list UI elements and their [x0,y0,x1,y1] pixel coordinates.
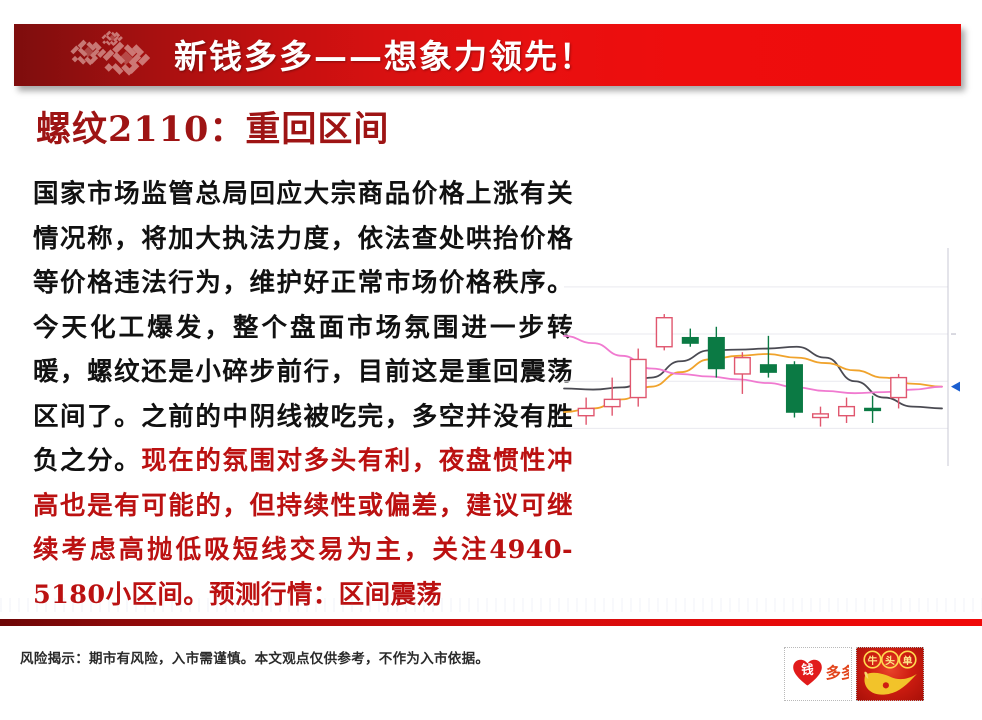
candlestick-chart-svg [558,246,962,474]
logo-heart-char: 钱 [801,662,814,677]
background-texture [0,598,982,612]
qianduoduo-heart-logo-icon: 钱 多多 [784,647,852,701]
body-paragraph: 国家市场监管总局回应大宗商品价格上涨有关情况称，将加大执法力度，依法查处哄抬价格… [33,172,573,617]
logo-char-tou: 头 [885,654,895,667]
niutoudan-bull-logo-icon: 牛 头 单 [856,647,924,701]
chart-gridlines [564,287,948,429]
chart-moving-average-lines [564,336,942,412]
logo-char-dan: 单 [903,654,913,667]
risk-disclaimer: 风险揭示：期市有风险，入市需谨慎。本文观点仅供参考，不作为入市依据。 [20,647,489,667]
footer-divider [0,619,982,626]
header-title: 新钱多多——想象力领先！ [174,30,594,78]
logo-text: 多多 [826,664,849,682]
page-title: 螺纹2110：重回区间 [36,101,389,152]
diamond-lattice-logo-icon [50,26,170,86]
chart-axis [948,248,956,466]
chart-price-marker [951,382,960,392]
header-banner: 新钱多多——想象力领先！ [14,24,961,86]
body-text-black: 国家市场监管总局回应大宗商品价格上涨有关情况称，将加大执法力度，依法查处哄抬价格… [33,179,573,476]
logo-char-niu: 牛 [868,654,878,667]
footer-logo-group: 钱 多多 牛 头 单 [784,647,924,701]
niutoudan-logo-svg: 牛 头 单 [857,648,923,700]
candlestick-chart [558,246,962,474]
qianduoduo-logo-svg: 钱 多多 [787,653,849,695]
